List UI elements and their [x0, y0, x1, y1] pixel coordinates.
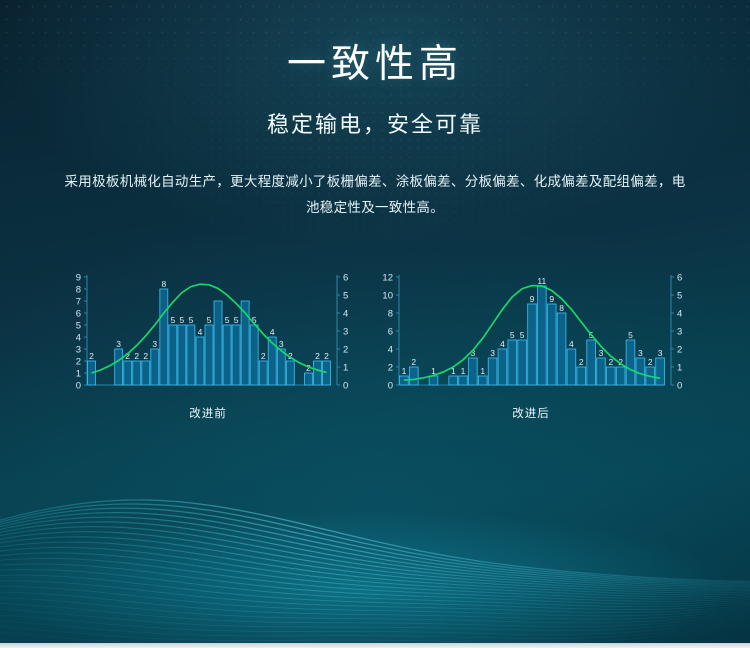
- bar-value-label: 2: [143, 351, 148, 361]
- bar-value-label: 9: [549, 294, 554, 304]
- left-axis-tick-label: 6: [76, 308, 81, 319]
- page-description: 采用极板机械化自动生产，更大程度减小了板栅偏差、涂板偏差、分板偏差、化成偏差及配…: [60, 169, 690, 221]
- bar-value-label: 1: [480, 366, 485, 376]
- bar-value-label: 9: [530, 294, 535, 304]
- wave-contour-line: [0, 553, 750, 599]
- right-axis-tick-label: 4: [677, 308, 682, 319]
- histogram-bar: [626, 340, 635, 385]
- bar-value-label: 1: [402, 366, 407, 376]
- bar-value-label: 3: [638, 348, 643, 358]
- wave-contour-line: [0, 613, 750, 642]
- wave-contour-line: [0, 611, 750, 639]
- bar-value-label: 5: [520, 330, 525, 340]
- wave-contour-line: [0, 517, 750, 586]
- page-subtitle: 稳定输电，安全可靠: [0, 107, 750, 139]
- wave-contour-line: [0, 609, 750, 634]
- wave-contour-line: [0, 586, 750, 615]
- histogram-bar: [133, 361, 141, 385]
- histogram-bar: [259, 361, 267, 385]
- histogram-bar: [286, 361, 294, 385]
- bar-value-label: 5: [189, 315, 194, 325]
- histogram-bar: [449, 376, 458, 385]
- bar-value-label: 5: [234, 315, 239, 325]
- histogram-bar: [178, 325, 186, 385]
- right-axis-tick-label: 3: [677, 326, 682, 337]
- left-axis-tick-label: 3: [76, 344, 81, 355]
- wave-contour-line: [0, 547, 750, 596]
- histogram-bar: [577, 367, 586, 385]
- bar-value-label: 3: [658, 348, 663, 358]
- chart-before-plot: 012345678901234562322238555455552432222: [63, 263, 353, 403]
- bar-value-label: 5: [225, 315, 230, 325]
- chart-after-caption: 改进后: [375, 405, 687, 421]
- histogram-bar: [478, 376, 487, 385]
- right-axis-tick-label: 0: [343, 380, 348, 391]
- bar-value-label: 3: [279, 339, 284, 349]
- bar-value-label: 2: [134, 351, 139, 361]
- chart-after-plot: 0246810120123456121113134559119842532253…: [375, 263, 687, 403]
- promo-page: 一致性高 稳定输电，安全可靠 采用极板机械化自动生产，更大程度减小了板栅偏差、涂…: [0, 0, 750, 648]
- wave-contour-line: [0, 532, 750, 591]
- bar-value-label: 5: [207, 315, 212, 325]
- chart-before-svg: 012345678901234562322238555455552432222: [63, 263, 353, 403]
- histogram-bar: [488, 358, 497, 385]
- histogram-bar: [587, 340, 596, 385]
- bar-value-label: 3: [490, 348, 495, 358]
- bar-value-label: 5: [170, 315, 175, 325]
- right-axis-tick-label: 2: [343, 344, 348, 355]
- histogram-bar: [636, 358, 645, 385]
- right-axis-tick-label: 6: [677, 272, 682, 283]
- wave-contour-line: [0, 542, 750, 595]
- footer-bar: [0, 643, 750, 648]
- bar-value-label: 3: [599, 348, 604, 358]
- wave-contour-line: [0, 508, 750, 584]
- right-axis-tick-label: 0: [677, 380, 682, 391]
- left-axis-tick-label: 0: [388, 380, 393, 391]
- left-axis-tick-label: 5: [76, 320, 81, 331]
- wave-contour-line: [0, 537, 750, 593]
- histogram-bar: [528, 304, 537, 385]
- wave-contour-line: [0, 564, 750, 604]
- histogram-bar: [187, 325, 195, 385]
- bar-value-label: 2: [261, 351, 266, 361]
- histogram-bar: [606, 367, 615, 385]
- histogram-bar: [567, 349, 576, 385]
- right-axis-tick-label: 2: [677, 344, 682, 355]
- bar-value-label: 2: [89, 351, 94, 361]
- bar-value-label: 5: [628, 330, 633, 340]
- histogram-bar: [151, 349, 159, 385]
- histogram-bar: [409, 367, 418, 385]
- right-axis-tick-label: 5: [677, 290, 682, 301]
- left-axis-tick-label: 8: [388, 308, 393, 319]
- histogram-bar: [160, 289, 168, 385]
- histogram-bar: [214, 301, 222, 385]
- left-axis-tick-label: 4: [76, 332, 81, 343]
- wave-contour-line: [0, 522, 750, 588]
- bar-value-label: 2: [579, 357, 584, 367]
- page-title: 一致性高: [0, 44, 750, 87]
- histogram-bar: [142, 361, 150, 385]
- wave-contour-line: [0, 558, 750, 601]
- bar-value-label: 8: [161, 279, 166, 289]
- left-axis-tick-label: 10: [382, 290, 393, 301]
- histogram-bar: [169, 325, 177, 385]
- bar-value-label: 2: [324, 351, 329, 361]
- bar-value-label: 4: [270, 327, 275, 337]
- histogram-bar: [277, 349, 285, 385]
- wave-contour-line: [0, 592, 750, 619]
- wave-contour-line: [0, 513, 750, 586]
- wave-contour-line: [0, 581, 750, 613]
- histogram-bar: [205, 325, 213, 385]
- bar-value-label: 2: [648, 357, 653, 367]
- histogram-bar: [304, 373, 312, 385]
- bar-value-label: 3: [152, 339, 157, 349]
- bar-value-label: 4: [569, 339, 574, 349]
- left-axis-tick-label: 4: [388, 344, 393, 355]
- histogram-bar: [323, 361, 331, 385]
- histogram-bar: [557, 313, 566, 385]
- histogram-bar: [538, 286, 547, 385]
- wave-contour-line: [0, 504, 750, 583]
- histogram-bar: [469, 358, 478, 385]
- right-axis-tick-label: 5: [343, 290, 348, 301]
- bar-value-label: 2: [411, 357, 416, 367]
- bar-value-label: 8: [559, 303, 564, 313]
- wave-glow: [0, 438, 750, 648]
- histogram-bar: [268, 337, 276, 385]
- bar-value-label: 4: [500, 339, 505, 349]
- chart-after-svg: 0246810120123456121113134559119842532253…: [375, 263, 687, 403]
- left-axis-tick-label: 6: [388, 326, 393, 337]
- histogram-bar: [196, 337, 204, 385]
- left-axis-tick-label: 9: [76, 272, 81, 283]
- bar-value-label: 2: [315, 351, 320, 361]
- histogram-bar: [656, 358, 665, 385]
- chart-after: 0246810120123456121113134559119842532253…: [375, 263, 687, 421]
- hero-section: 一致性高 稳定输电，安全可靠 采用极板机械化自动生产，更大程度减小了板栅偏差、涂…: [0, 0, 750, 221]
- chart-before-caption: 改进前: [63, 405, 353, 421]
- histogram-bar: [223, 325, 231, 385]
- bar-value-label: 5: [510, 330, 515, 340]
- histogram-bar: [508, 340, 517, 385]
- wave-contour-line: [0, 597, 750, 622]
- wave-contour-line: [0, 500, 750, 581]
- left-axis-tick-label: 2: [388, 362, 393, 373]
- histogram-bar: [616, 367, 625, 385]
- left-axis-tick-label: 0: [76, 380, 81, 391]
- chart-before: 012345678901234562322238555455552432222 …: [63, 263, 353, 421]
- bar-value-label: 1: [461, 366, 466, 376]
- histogram-bar: [459, 376, 468, 385]
- charts-container: 012345678901234562322238555455552432222 …: [0, 263, 750, 421]
- right-axis-tick-label: 1: [677, 362, 682, 373]
- histogram-bar: [597, 358, 606, 385]
- histogram-bar: [250, 325, 258, 385]
- bar-value-label: 11: [537, 276, 546, 286]
- right-axis-tick-label: 3: [343, 326, 348, 337]
- left-axis-tick-label: 1: [76, 368, 81, 379]
- wave-contour-line: [0, 607, 750, 630]
- right-axis-tick-label: 1: [343, 362, 348, 373]
- wave-contour-line: [0, 570, 750, 607]
- right-axis-tick-label: 4: [343, 308, 348, 319]
- bar-value-label: 4: [198, 327, 203, 337]
- left-axis-tick-label: 7: [76, 296, 81, 307]
- histogram-bar: [313, 361, 321, 385]
- histogram-bar: [518, 340, 527, 385]
- wave-contour-line: [0, 527, 750, 590]
- histogram-bar: [547, 304, 556, 385]
- bar-value-label: 3: [116, 339, 121, 349]
- wave-contour-line: [0, 575, 750, 609]
- histogram-bar: [232, 325, 240, 385]
- right-axis-tick-label: 6: [343, 272, 348, 283]
- histogram-bar: [498, 349, 507, 385]
- bar-value-label: 5: [180, 315, 185, 325]
- left-axis-tick-label: 2: [76, 356, 81, 367]
- wave-contour-line: [0, 603, 750, 627]
- left-axis-tick-label: 12: [382, 272, 393, 283]
- histogram-bar: [429, 376, 438, 385]
- particle-wave-graphic: [0, 438, 750, 648]
- histogram-bar: [124, 361, 132, 385]
- histogram-bar: [88, 361, 96, 385]
- left-axis-tick-label: 8: [76, 284, 81, 295]
- histogram-bar: [115, 349, 123, 385]
